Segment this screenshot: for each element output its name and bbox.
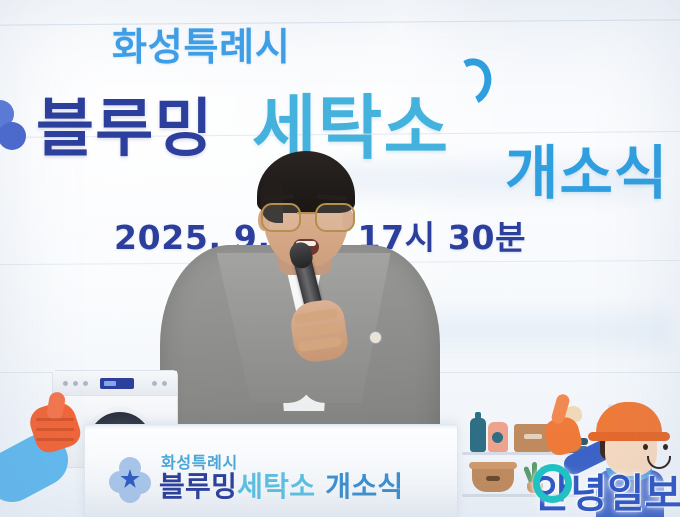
banner-title-opening: 개소식 xyxy=(505,126,669,210)
washer-display xyxy=(100,378,134,389)
banner-city-line: 화성특례시 xyxy=(112,16,291,71)
softener-bottle-icon xyxy=(488,422,508,452)
podium: 화성특례시 블루밍세탁소 개소식 xyxy=(84,424,458,517)
speaker xyxy=(150,165,450,455)
hard-hat-brim xyxy=(588,432,670,441)
banner-wrinkle xyxy=(420,300,670,360)
podium-top-edge xyxy=(85,425,457,430)
podium-title-laundry: 세탁소 xyxy=(237,470,315,503)
washer-buttons-left xyxy=(63,381,88,386)
watermark-circle-accent xyxy=(533,464,572,503)
eyeglasses xyxy=(260,203,352,229)
podium-title-blooming: 블루밍 xyxy=(159,470,237,503)
press-photo: 화성특례시 블루밍 세탁소 개소식 2025. 9. (화) 17시 30분 xyxy=(0,0,680,517)
blooming-flower-logo-partial xyxy=(0,100,30,156)
banner-title-blooming: 블루밍 xyxy=(36,78,214,169)
washer-buttons-right xyxy=(152,381,167,386)
thumbs-up-glove-illustration xyxy=(0,398,90,508)
laundry-basket-icon xyxy=(472,466,514,492)
blooming-flower-logo xyxy=(109,457,151,499)
washer-control-panel xyxy=(53,371,177,396)
podium-title: 블루밍세탁소 개소식 xyxy=(159,465,403,505)
detergent-bottle-icon xyxy=(470,418,486,452)
lapel-pin xyxy=(369,331,382,344)
podium-title-opening: 개소식 xyxy=(325,470,403,503)
